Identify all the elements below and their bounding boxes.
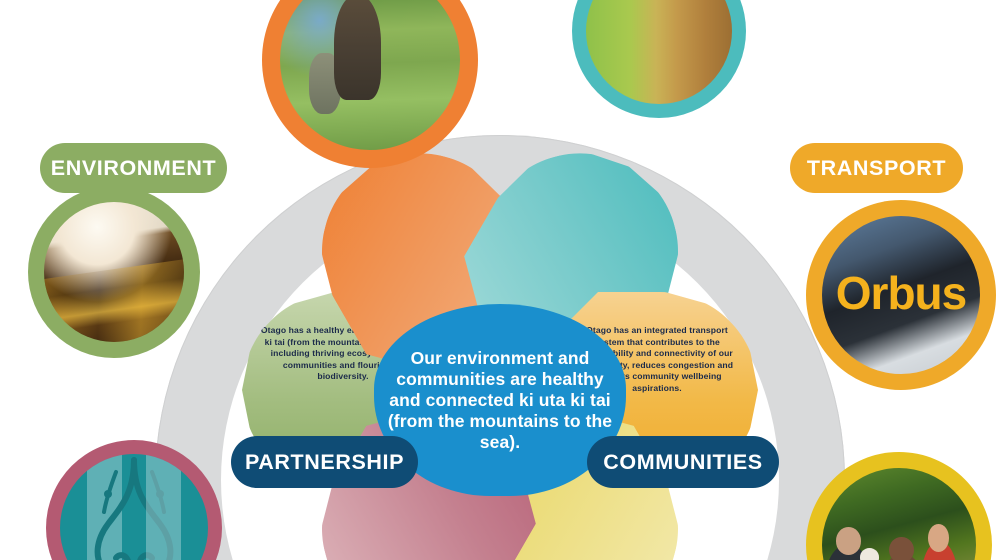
person-silhouette <box>881 554 924 560</box>
label-communities[interactable]: COMMUNITIES <box>587 436 779 488</box>
photo-transport-orbus: Orbus <box>806 200 996 390</box>
family-in-grassland-image <box>280 0 460 150</box>
green-field-dry-land-image <box>586 0 732 104</box>
kowhaiwhai-pattern-image <box>60 454 208 560</box>
label-partnership[interactable]: PARTNERSHIP <box>231 436 418 488</box>
mountain-landscape-image <box>44 202 184 342</box>
koru-pattern-icon <box>60 454 208 560</box>
photo-partnership-kowhaiwhai <box>46 440 222 560</box>
person-silhouette <box>921 542 958 560</box>
label-transport[interactable]: TRANSPORT <box>790 143 963 193</box>
community-group-image <box>822 468 976 560</box>
photo-climate-field <box>572 0 746 118</box>
centre-vision-text: Our environment and communities are heal… <box>384 348 616 453</box>
orbus-bus-image: Orbus <box>822 216 980 374</box>
infographic-canvas: Otago has a healthy environment ki uta k… <box>0 0 1000 560</box>
orbus-wordmark: Orbus <box>822 270 980 316</box>
photo-environment-mountains <box>28 186 200 358</box>
label-environment[interactable]: ENVIRONMENT <box>40 143 227 193</box>
